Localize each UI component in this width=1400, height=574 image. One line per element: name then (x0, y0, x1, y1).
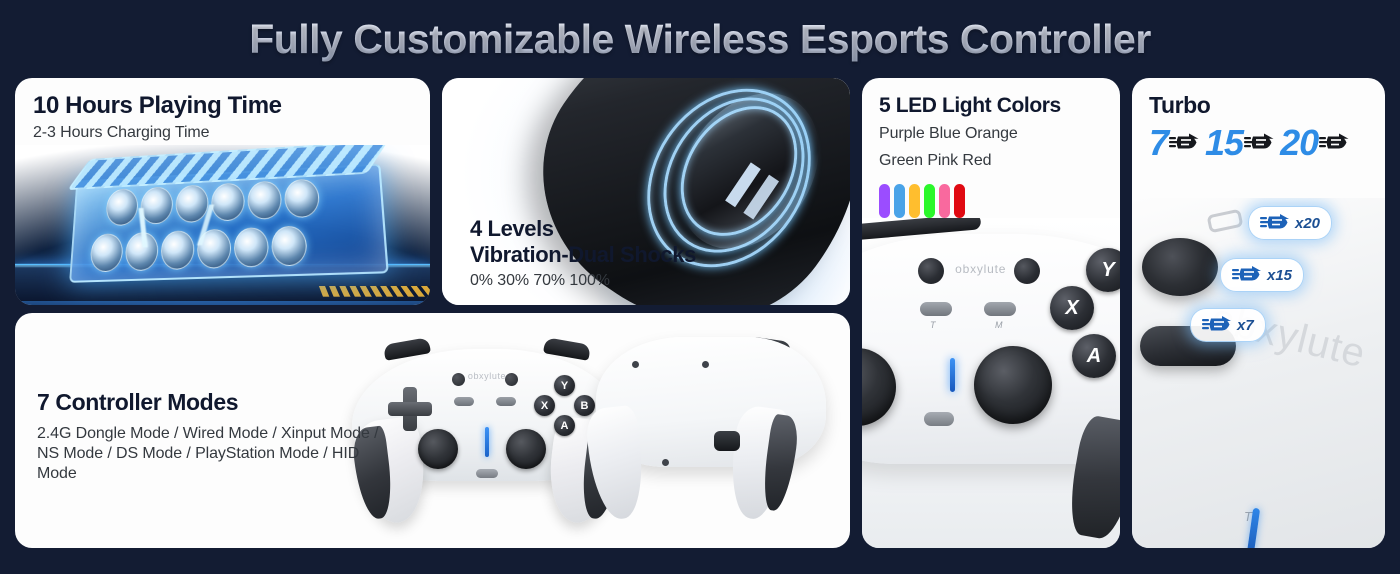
turbo-badge-x7: x7 (1190, 308, 1266, 342)
led-swatch-pink (939, 184, 950, 218)
card-turbo: obxylute T x20 (1132, 78, 1385, 548)
mode-button (984, 302, 1016, 316)
battery-heading: 10 Hours Playing Time (33, 92, 430, 120)
led-swatch-green (924, 184, 935, 218)
led-colors-line1: Purple Blue Orange (879, 124, 1120, 145)
menu-button (1014, 258, 1040, 284)
led-swatch-red (954, 184, 965, 218)
modes-heading: 7 Controller Modes (37, 389, 395, 415)
controllers-illustration: obxylute Y X B A (330, 313, 850, 548)
turbo-speed-value: 15 (1205, 125, 1243, 161)
screw-icon (702, 361, 709, 368)
card-led-colors: obxylute T M Y X A 5 LED Light Colors Pu… (862, 78, 1120, 548)
led-strip (485, 427, 489, 457)
turbo-speed-value: 20 (1280, 125, 1318, 161)
led-heading: 5 LED Light Colors (879, 94, 1120, 118)
button-y: Y (554, 375, 575, 396)
turbo-speed-icon (1232, 264, 1262, 286)
button-a: A (1072, 334, 1116, 378)
led-swatch-purple (879, 184, 890, 218)
card-battery-life: 10 Hours Playing Time 2-3 Hours Charging… (15, 78, 430, 305)
turbo-speed-icon (1169, 132, 1199, 154)
controller-back-view (596, 337, 846, 529)
battery-pack (69, 163, 389, 282)
thumbstick (1142, 238, 1218, 296)
back-paddle-button (714, 431, 740, 451)
turbo-speed-icon (1244, 132, 1274, 154)
board-connector (320, 286, 430, 297)
turbo-speed-value: 7 (1149, 125, 1168, 161)
turbo-button-label: T (930, 320, 936, 330)
capture-button (452, 373, 465, 386)
led-swatch-orange (909, 184, 920, 218)
right-thumbstick (506, 429, 546, 469)
turbo-speed-item: 7 (1149, 125, 1199, 161)
turbo-badge-label: x20 (1295, 215, 1320, 232)
turbo-button (454, 397, 474, 406)
header-bar: Fully Customizable Wireless Esports Cont… (0, 0, 1400, 78)
modes-text-block: 7 Controller Modes 2.4G Dongle Mode / Wi… (37, 389, 395, 484)
vibration-levels: 0% 30% 70% 100% (470, 271, 696, 291)
usb-port-icon (1207, 209, 1244, 234)
button-b: B (574, 395, 595, 416)
screw-icon (632, 361, 639, 368)
vibration-heading-line1: 4 Levels (470, 216, 696, 241)
button-x: X (534, 395, 555, 416)
battery-text-block: 10 Hours Playing Time 2-3 Hours Charging… (15, 78, 430, 143)
brand-logo: obxylute (955, 262, 1006, 276)
turbo-heading: Turbo (1149, 92, 1385, 118)
turbo-speed-icon (1319, 132, 1349, 154)
home-button (924, 412, 954, 426)
led-controller-illustration: obxylute T M Y X A (862, 218, 1120, 548)
mode-button-label: M (995, 320, 1003, 330)
brand-logo: obxylute (468, 371, 506, 381)
feature-grid: 10 Hours Playing Time 2-3 Hours Charging… (0, 78, 1400, 574)
capture-button (918, 258, 944, 284)
button-x: X (1050, 286, 1094, 330)
led-strip (950, 358, 955, 392)
turbo-badge-x15: x15 (1220, 258, 1304, 292)
card-vibration: 4 Levels Vibration-Dual Shocks 0% 30% 70… (442, 78, 850, 305)
battery-illustration (15, 145, 430, 305)
left-thumbstick (418, 429, 458, 469)
right-thumbstick (974, 346, 1052, 424)
led-text-block: 5 LED Light Colors Purple Blue Orange Gr… (862, 78, 1120, 218)
turbo-badge-x20: x20 (1248, 206, 1332, 240)
button-a: A (554, 415, 575, 436)
mode-button (496, 397, 516, 406)
turbo-badge-label: x7 (1237, 317, 1254, 334)
turbo-text-block: Turbo 71520 (1132, 78, 1385, 161)
battery-subheading: 2-3 Hours Charging Time (33, 123, 430, 143)
turbo-speed-icon (1202, 314, 1232, 336)
home-button (476, 469, 498, 478)
led-color-swatches (879, 184, 1120, 218)
vibration-heading-line2: Vibration-Dual Shocks (470, 242, 696, 267)
turbo-speed-item: 15 (1205, 125, 1274, 161)
page-title: Fully Customizable Wireless Esports Cont… (249, 16, 1151, 63)
led-colors-line2: Green Pink Red (879, 151, 1120, 172)
turbo-button (920, 302, 952, 316)
screw-icon (662, 459, 669, 466)
turbo-badge-label: x15 (1267, 267, 1292, 284)
menu-button (505, 373, 518, 386)
modes-list: 2.4G Dongle Mode / Wired Mode / Xinput M… (37, 424, 395, 484)
card-controller-modes: obxylute Y X B A (15, 313, 850, 548)
turbo-speed-icon (1260, 212, 1290, 234)
vibration-text-block: 4 Levels Vibration-Dual Shocks 0% 30% 70… (470, 216, 696, 291)
led-swatch-blue (894, 184, 905, 218)
turbo-speed-item: 20 (1280, 125, 1349, 161)
turbo-speed-list: 71520 (1149, 125, 1385, 161)
turbo-illustration: obxylute T x20 (1132, 198, 1385, 548)
